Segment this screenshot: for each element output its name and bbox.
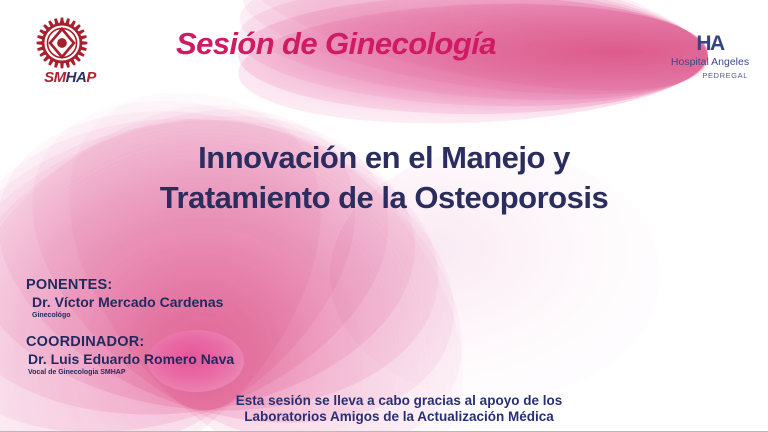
coordinator-role: Vocal de Ginecologia SMHAP	[28, 369, 356, 377]
page-title: Innovación en el Manejo y Tratamiento de…	[60, 138, 708, 217]
smhap-word-part3: P	[86, 69, 96, 86]
credits-block: PONENTES: Dr. Víctor Mercado Cardenas Gi…	[26, 276, 356, 377]
sponsor-note-line-1: Esta sesión se lleva a cabo gracias al a…	[184, 393, 614, 409]
sponsor-note-line-2: Laboratorios Amigos de la Actualización …	[184, 409, 614, 425]
smhap-word-part1: SM	[44, 69, 66, 86]
main-title-line-1: Innovación en el Manejo y	[60, 138, 708, 178]
smhap-logo: SMHAP	[24, 16, 116, 96]
speakers-block: PONENTES: Dr. Víctor Mercado Cardenas Gi…	[26, 276, 356, 320]
coordinator-name: Dr. Luis Eduardo Romero Nava	[28, 351, 356, 369]
main-title-line-2: Tratamiento de la Osteoporosis	[60, 178, 708, 218]
sponsor-note: Esta sesión se lleva a cabo gracias al a…	[184, 393, 614, 425]
presentation-slide: SMHAP HA Hospital Angeles PEDREGAL Sesió…	[0, 0, 768, 432]
hospital-angeles-logo: HA Hospital Angeles PEDREGAL	[662, 33, 758, 80]
hospital-angeles-branch: PEDREGAL	[662, 71, 758, 80]
speaker-role: Ginecológo	[32, 312, 356, 320]
swoosh-petal	[236, 0, 711, 133]
smhap-wordmark: SMHAP	[24, 70, 116, 85]
coordinator-heading: COORDINADOR:	[26, 333, 356, 351]
speaker-name: Dr. Víctor Mercado Cardenas	[32, 294, 356, 312]
coordinator-block: COORDINADOR: Dr. Luis Eduardo Romero Nav…	[26, 333, 356, 377]
smhap-sunburst-icon	[34, 16, 90, 70]
hospital-angeles-name: Hospital Angeles	[662, 57, 758, 69]
session-title: Sesión de Ginecología	[176, 28, 596, 61]
hospital-angeles-monogram: HA	[662, 33, 758, 54]
smhap-word-part2: HA	[66, 69, 87, 86]
speakers-heading: PONENTES:	[26, 276, 356, 294]
